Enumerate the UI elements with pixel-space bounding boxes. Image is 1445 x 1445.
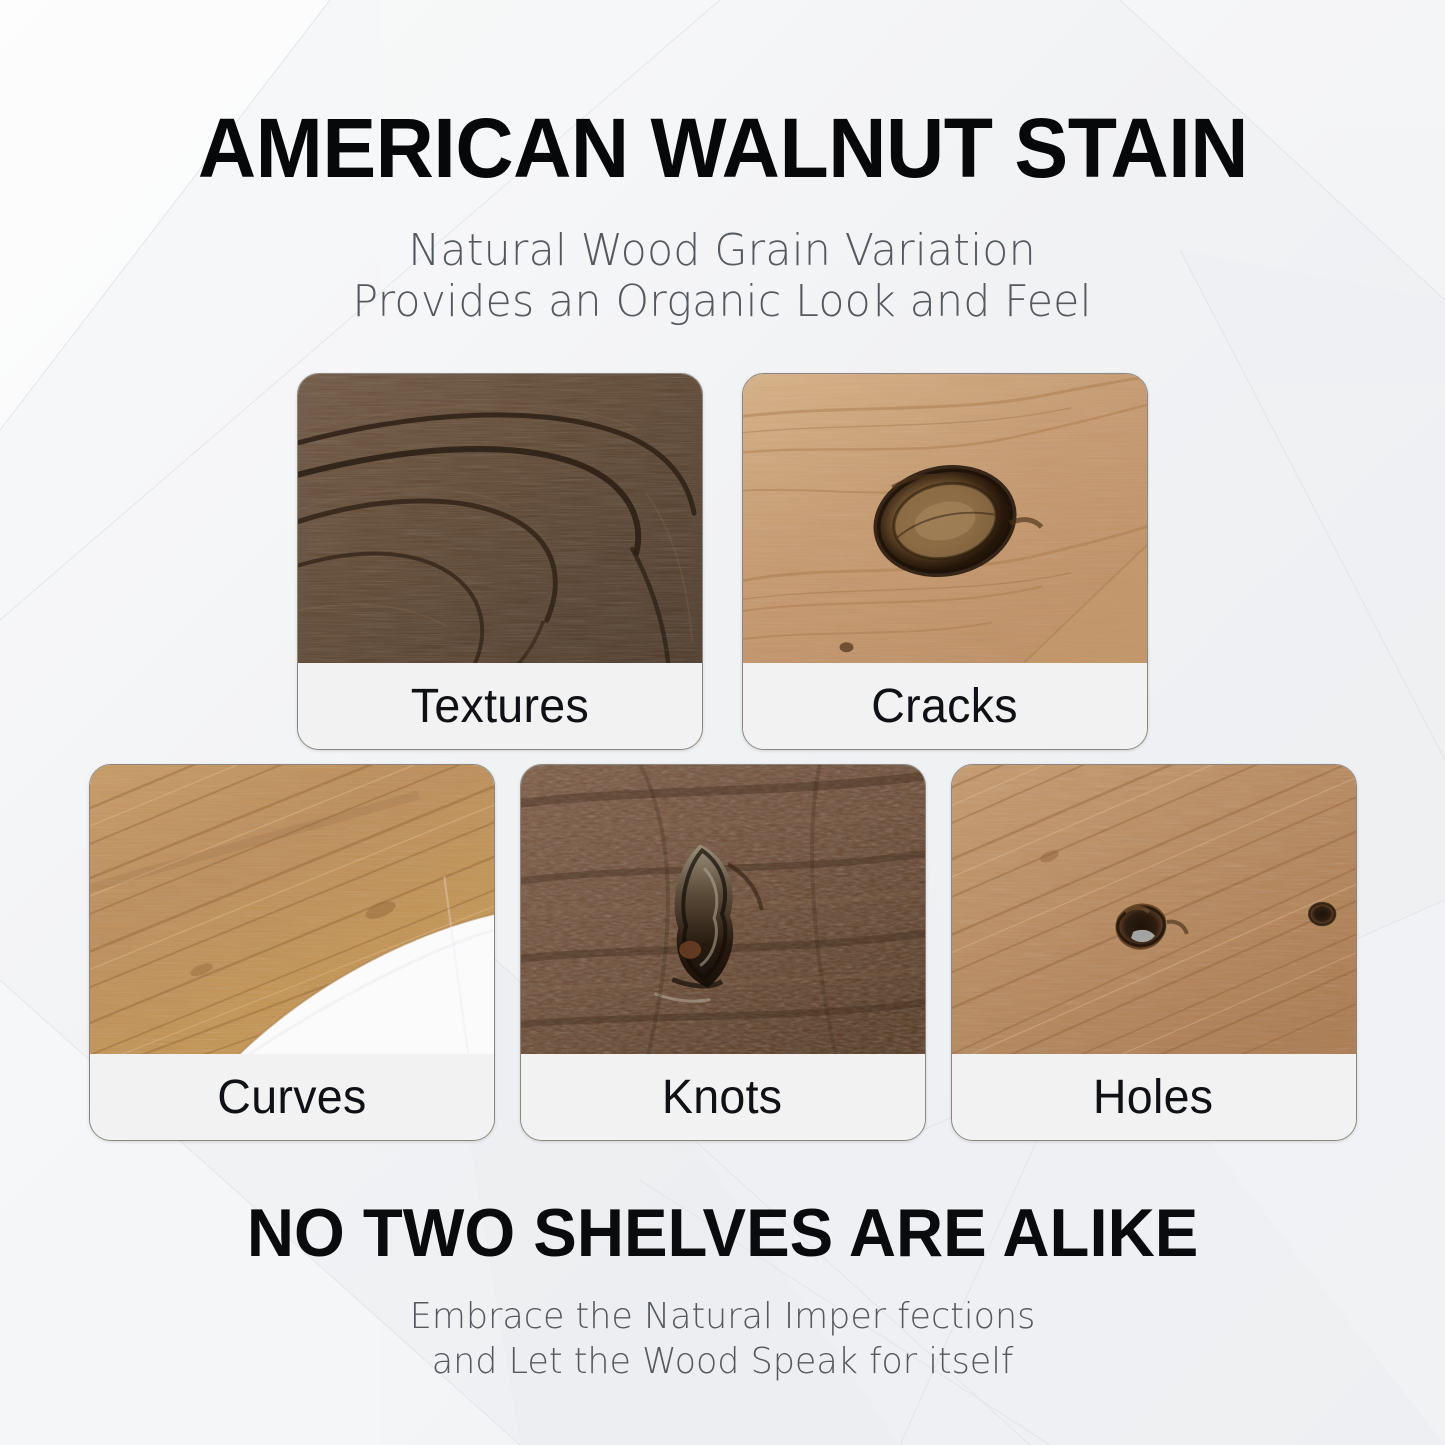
footer-block: NO TWO SHELVES ARE ALIKE Embrace the Nat… xyxy=(227,1199,1218,1384)
curved-board-edge-photo xyxy=(90,765,494,1054)
feature-card-label-curves: Curves xyxy=(217,1070,366,1125)
feature-card-knots[interactable]: Knots xyxy=(520,764,926,1141)
feature-card-holes[interactable]: Holes xyxy=(951,764,1357,1141)
feature-card-caption: Curves xyxy=(90,1054,494,1140)
page-subtitle: Natural Wood Grain Variation Provides an… xyxy=(353,226,1092,327)
feature-card-cracks[interactable]: Cracks xyxy=(742,373,1148,750)
page-title: AMERICAN WALNUT STAIN xyxy=(197,106,1247,190)
footer-title: NO TWO SHELVES ARE ALIKE xyxy=(247,1199,1198,1267)
feature-card-label-knots: Knots xyxy=(662,1070,783,1125)
feature-card-label-holes: Holes xyxy=(1093,1070,1213,1125)
feature-card-curves[interactable]: Curves xyxy=(89,764,495,1141)
feature-card-caption: Holes xyxy=(952,1054,1356,1140)
feature-card-caption: Textures xyxy=(298,663,702,749)
dark-wood-knot-photo xyxy=(521,765,925,1054)
footer-subtitle-line1: Embrace the Natural Imper fections xyxy=(410,1296,1036,1337)
page-subtitle-line2: Provides an Organic Look and Feel xyxy=(353,277,1092,328)
tan-wood-holes-photo xyxy=(952,765,1356,1054)
feature-card-row-bottom: Curves xyxy=(89,764,1357,1141)
feature-card-caption: Knots xyxy=(521,1054,925,1140)
footer-subtitle: Embrace the Natural Imper fections and L… xyxy=(242,1295,1203,1384)
feature-card-caption: Cracks xyxy=(743,663,1147,749)
feature-card-row-top: Textures xyxy=(297,373,1148,750)
dark-walnut-grain-rings-photo xyxy=(298,374,702,663)
feature-card-label-cracks: Cracks xyxy=(872,679,1019,734)
light-oak-knot-crack-photo xyxy=(743,374,1147,663)
feature-card-textures[interactable]: Textures xyxy=(297,373,703,750)
footer-subtitle-line2: and Let the Wood Speak for itself xyxy=(242,1340,1203,1385)
feature-card-label-textures: Textures xyxy=(411,679,589,734)
page-subtitle-line1: Natural Wood Grain Variation xyxy=(409,225,1037,276)
